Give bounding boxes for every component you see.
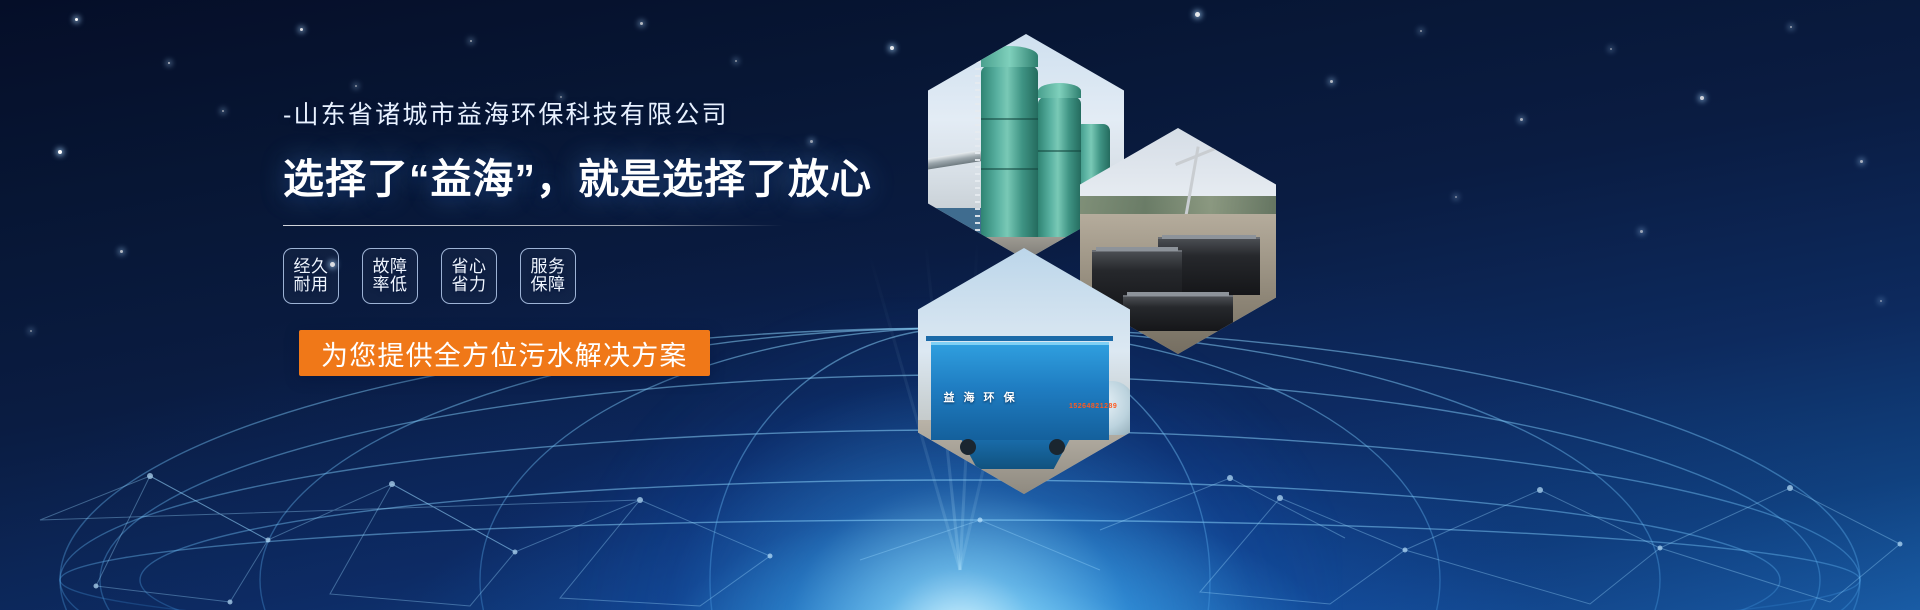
- hexagon-photo-cluster: 益 海 环 保 15264821289: [880, 0, 1340, 610]
- feature-badge-list: 经久 耐用 故障 率低 省心 省力 服务 保障: [283, 248, 843, 304]
- badge-line-2: 保障: [531, 276, 566, 294]
- badge-line-1: 经久: [294, 258, 329, 276]
- machine-phone-text: 15264821289: [1069, 403, 1117, 410]
- feature-badge-effortless[interactable]: 省心 省力: [441, 248, 497, 304]
- hero-headline: 选择了“益海”，就是选择了放心: [283, 145, 843, 205]
- hero-copy-block: -山东省诸城市益海环保科技有限公司 选择了“益海”，就是选择了放心 经久 耐用 …: [283, 95, 843, 376]
- feature-badge-durable[interactable]: 经久 耐用: [283, 248, 339, 304]
- headline-divider: [283, 225, 783, 226]
- badge-line-1: 省心: [452, 258, 487, 276]
- badge-line-2: 省力: [452, 276, 487, 294]
- badge-line-1: 故障: [373, 258, 408, 276]
- feature-badge-service[interactable]: 服务 保障: [520, 248, 576, 304]
- badge-line-1: 服务: [531, 258, 566, 276]
- company-subtitle: -山东省诸城市益海环保科技有限公司: [283, 95, 843, 131]
- cta-button[interactable]: 为您提供全方位污水解决方案: [299, 330, 710, 376]
- badge-line-2: 率低: [373, 276, 408, 294]
- hero-banner: -山东省诸城市益海环保科技有限公司 选择了“益海”，就是选择了放心 经久 耐用 …: [0, 0, 1920, 610]
- feature-badge-low-failure[interactable]: 故障 率低: [362, 248, 418, 304]
- badge-line-2: 耐用: [294, 276, 329, 294]
